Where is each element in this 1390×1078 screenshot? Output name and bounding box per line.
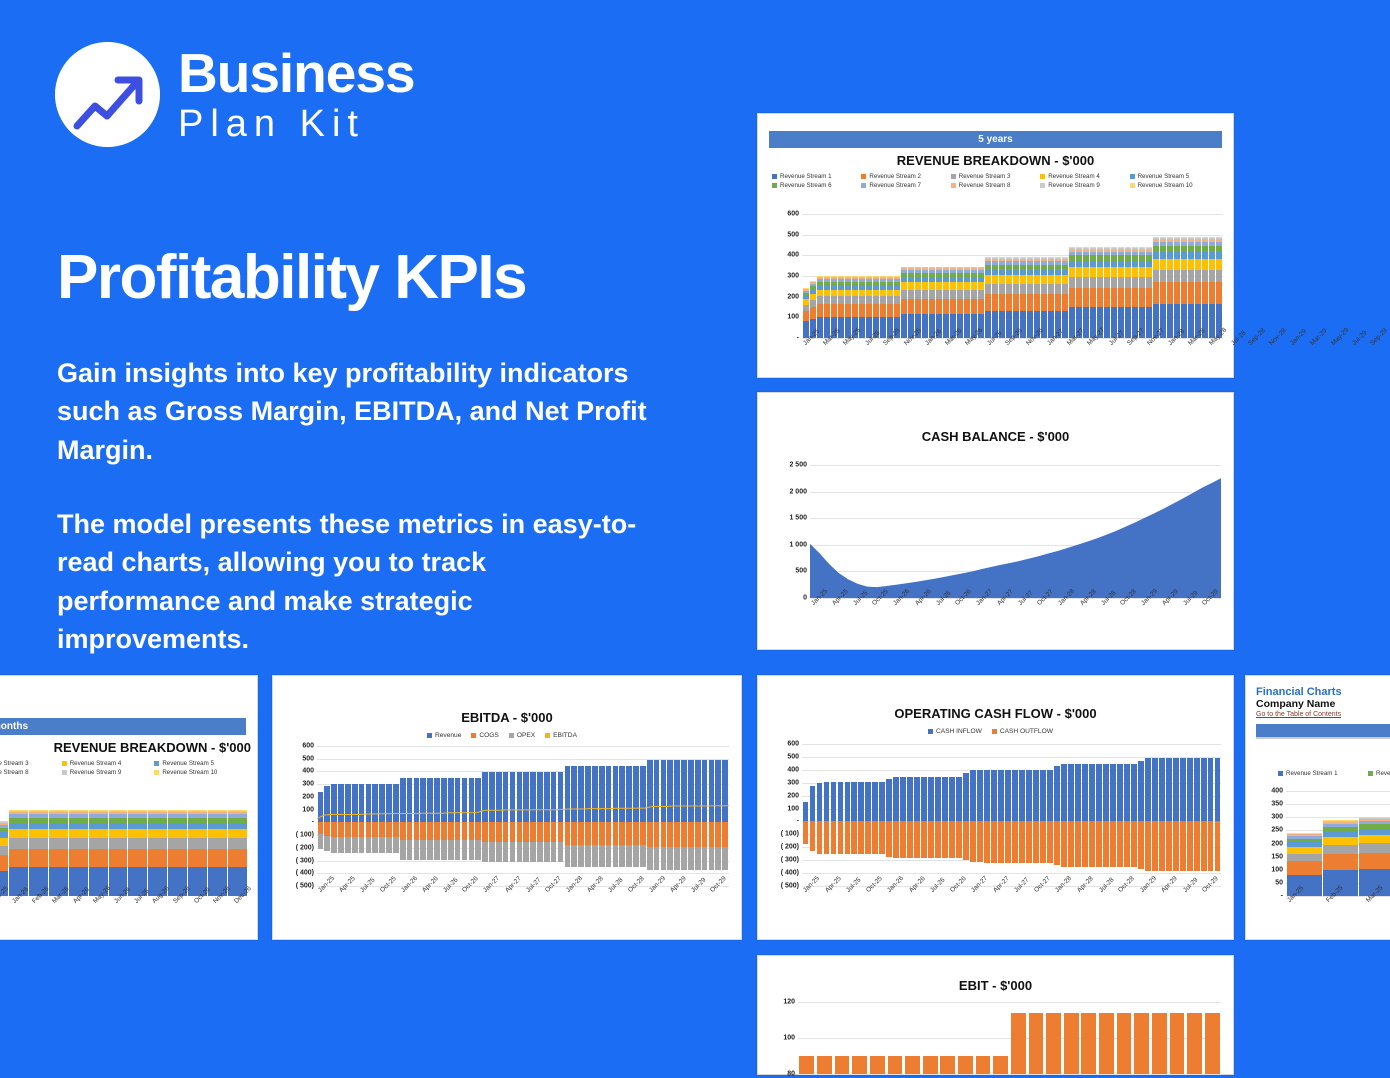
- bar-group: [1012, 744, 1018, 886]
- bar: [1103, 764, 1109, 821]
- stacked-bar: [1111, 247, 1117, 338]
- legend-swatch: [427, 733, 432, 738]
- legend-label: CASH OUTFLOW: [1000, 728, 1053, 735]
- bar: [817, 821, 823, 853]
- bar-segment: [971, 299, 977, 314]
- bar: [803, 802, 809, 821]
- bar-segment: [831, 296, 837, 303]
- bar-segment: [1146, 307, 1152, 338]
- bar-segment: [936, 282, 942, 290]
- legend-item: EBITDA: [545, 732, 577, 739]
- legend-item: Revenue Stream 6: [1368, 770, 1390, 777]
- bar-segment: [999, 294, 1005, 311]
- stacked-bar: [49, 810, 68, 896]
- bar-segment: [1153, 282, 1159, 303]
- stacked-bar: [1139, 247, 1145, 338]
- bar-segment: [957, 299, 963, 314]
- bar: [1180, 821, 1186, 871]
- stacked-bar: [89, 810, 108, 896]
- bar-segment: [852, 290, 858, 297]
- bar: [907, 777, 913, 821]
- bar: [831, 821, 837, 854]
- bar-segment: [128, 849, 147, 867]
- stacked-bar: [1188, 237, 1194, 338]
- legend-swatch: [951, 183, 956, 188]
- bar-segment: [1139, 267, 1145, 277]
- gridline: [802, 886, 1221, 887]
- bar-segment: [1090, 288, 1096, 307]
- y-axis-tick: 0: [803, 595, 810, 602]
- bar-group: [942, 744, 948, 886]
- stacked-bar: [824, 276, 830, 338]
- legend-item: Revenue Stream 9: [1040, 182, 1129, 189]
- bar-segment: [1104, 267, 1110, 277]
- bar: [942, 777, 948, 821]
- bar: [1131, 764, 1137, 821]
- bar: [977, 770, 983, 821]
- bar-segment: [873, 296, 879, 303]
- bar: [1159, 821, 1165, 871]
- stacked-bar: [901, 267, 907, 338]
- bar-segment: [0, 855, 8, 871]
- bar-segment: [1062, 284, 1068, 294]
- legend-item: Revenue Stream 8: [951, 182, 1040, 189]
- legend-label: Revenue Stream 8: [0, 769, 29, 776]
- stacked-bar: [109, 810, 128, 896]
- bar-group: [1173, 744, 1179, 886]
- xaxis-revenue-5y: Jan-25Mar-25May-25Jul-25Sep-25Nov-25Jan-…: [802, 342, 1223, 349]
- bar-segment: [1027, 294, 1033, 311]
- bar-segment: [957, 290, 963, 299]
- bar: [1075, 821, 1081, 866]
- bar-segment: [908, 290, 914, 299]
- legend-swatch: [1130, 183, 1135, 188]
- bar-group: [1075, 744, 1081, 886]
- stacked-bar: [1083, 247, 1089, 338]
- bar: [1096, 764, 1102, 821]
- stacked-bar: [922, 267, 928, 338]
- stacked-bar: [1153, 237, 1159, 338]
- stacked-bar: [929, 267, 935, 338]
- legend-item: Revenue: [427, 732, 461, 739]
- bar: [1131, 821, 1137, 866]
- chart-title-revenue-5y: REVENUE BREAKDOWN - $'000: [758, 153, 1233, 168]
- bar: [905, 1056, 920, 1074]
- bar-group: [1138, 744, 1144, 886]
- bar-group: [1208, 744, 1214, 886]
- stacked-bar: [1167, 237, 1173, 338]
- y-axis-tick: 400: [302, 768, 317, 775]
- bar: [1208, 821, 1214, 871]
- bar-segment: [1055, 294, 1061, 311]
- bar: [879, 821, 885, 854]
- y-axis-tick: 600: [787, 741, 802, 748]
- bar: [865, 782, 871, 821]
- stacked-bar: [29, 810, 48, 896]
- bar: [1082, 821, 1088, 866]
- stacked-bar: [880, 276, 886, 338]
- bar-segment: [1041, 284, 1047, 294]
- bar: [900, 777, 906, 821]
- bar: [1054, 821, 1060, 865]
- bar-group: [1089, 744, 1095, 886]
- bar-segment: [9, 849, 28, 867]
- bar-group: [907, 744, 913, 886]
- stacked-bar: [971, 267, 977, 338]
- bar-segment: [1006, 275, 1012, 284]
- bar-group: [1159, 744, 1165, 886]
- bar: [956, 821, 962, 858]
- stacked-bar: [1125, 247, 1131, 338]
- bar-group: [803, 744, 809, 886]
- bar-segment: [1153, 252, 1159, 259]
- bar-segment: [188, 829, 207, 838]
- bar-segment: [0, 838, 8, 846]
- stacked-bar: [208, 810, 227, 896]
- bar: [1005, 770, 1011, 822]
- bar-series: [798, 1002, 1221, 1074]
- legend-swatch: [951, 174, 956, 179]
- bar-group: [810, 744, 816, 886]
- bar-segment: [936, 290, 942, 299]
- bar: [1026, 770, 1032, 822]
- legend-label: Revenue Stream 5: [1138, 173, 1190, 180]
- bar-segment: [978, 282, 984, 290]
- legend-label: Revenue Stream 5: [162, 760, 214, 767]
- bar: [1173, 821, 1179, 871]
- bar-segment: [1287, 854, 1322, 862]
- legend-swatch: [1130, 174, 1135, 179]
- hero-paragraph-1: Gain insights into key profitability ind…: [57, 354, 657, 469]
- y-axis-tick: ( 100): [296, 832, 317, 839]
- bar: [888, 1056, 903, 1074]
- plot-cash-balance: 2 5002 0001 5001 0005000: [810, 465, 1221, 598]
- bar-group: [1194, 744, 1200, 886]
- table-of-contents-link[interactable]: Go to the Table of Contents: [1256, 711, 1390, 718]
- bar-segment: [1174, 282, 1180, 303]
- bar-segment: [1097, 277, 1103, 288]
- brand-name-line1: Business: [178, 46, 415, 101]
- stacked-bar: [1195, 237, 1201, 338]
- legend-item: Revenue Stream 3: [0, 760, 62, 767]
- bar-segment: [1209, 259, 1215, 270]
- bar: [1145, 821, 1151, 871]
- card-operating-cash-flow: OPERATING CASH FLOW - $'000 CASH INFLOWC…: [757, 675, 1234, 940]
- bar-series: [0, 796, 247, 896]
- bar-segment: [859, 304, 865, 317]
- bar-group: [1033, 744, 1039, 886]
- bar-segment: [1041, 275, 1047, 284]
- bar: [1145, 758, 1151, 822]
- stacked-bar: [1118, 247, 1124, 338]
- bar-segment: [964, 290, 970, 299]
- bar: [1082, 764, 1088, 821]
- bar-segment: [1083, 288, 1089, 307]
- legend-label: Revenue: [435, 732, 461, 739]
- stacked-bar: [999, 257, 1005, 338]
- bar-segment: [1323, 837, 1358, 845]
- bar: [1012, 821, 1018, 862]
- y-axis-tick: 300: [787, 779, 802, 786]
- chart-title-ebit: EBIT - $'000: [758, 978, 1233, 993]
- bar-segment: [894, 304, 900, 317]
- bar-segment: [992, 275, 998, 284]
- bar-segment: [1146, 267, 1152, 277]
- bar-segment: [1287, 847, 1322, 854]
- bar-segment: [838, 304, 844, 317]
- bar-group: [1201, 744, 1207, 886]
- cash-balance-area: [810, 465, 1221, 598]
- bar-group: [1082, 744, 1088, 886]
- bar: [928, 777, 934, 821]
- bar-group: [858, 744, 864, 886]
- bar-segment: [978, 299, 984, 314]
- bar-segment: [1055, 275, 1061, 284]
- legend-label: Revenue Stream 6: [1376, 770, 1390, 777]
- stacked-bar: [1076, 247, 1082, 338]
- y-axis-tick: 500: [787, 753, 802, 760]
- legend-swatch: [928, 729, 933, 734]
- panel-title: Financial Charts: [1256, 686, 1390, 698]
- legend-label: Revenue Stream 3: [0, 760, 29, 767]
- bar-segment: [887, 290, 893, 297]
- bar-group: [831, 744, 837, 886]
- stacked-bar: [1202, 237, 1208, 338]
- bar-series: [1286, 791, 1390, 896]
- bar: [1029, 1013, 1044, 1074]
- bar-group: [893, 744, 899, 886]
- bar-group: [921, 744, 927, 886]
- bar-segment: [901, 282, 907, 290]
- y-axis-tick: 200: [787, 792, 802, 799]
- legend-ebitda: RevenueCOGSOPEXEBITDA: [273, 731, 741, 740]
- bar-group: [970, 744, 976, 886]
- legend-label: Revenue Stream 10: [162, 769, 217, 776]
- bar-segment: [880, 290, 886, 297]
- legend-label: Revenue Stream 2: [869, 173, 921, 180]
- bar: [851, 782, 857, 821]
- card-ebit: EBIT - $'000 12010080: [757, 955, 1234, 1075]
- bar-segment: [894, 290, 900, 297]
- bar-segment: [1188, 252, 1194, 259]
- y-axis-tick: 200: [787, 293, 802, 300]
- plot-operating-cash-flow: 600500400300200100-( 100)( 200)( 300)( 4…: [802, 744, 1221, 886]
- bar-segment: [838, 290, 844, 297]
- y-axis-tick: 400: [787, 766, 802, 773]
- stacked-bar: [1069, 247, 1075, 338]
- bar: [1033, 821, 1039, 862]
- y-axis-tick: 500: [787, 231, 802, 238]
- bar-segment: [1111, 267, 1117, 277]
- bar-segment: [866, 304, 872, 317]
- bar-segment: [852, 304, 858, 317]
- bar: [949, 777, 955, 821]
- bar-group: [851, 744, 857, 886]
- y-axis-tick: ( 400): [781, 870, 802, 877]
- legend-label: Revenue Stream 10: [1138, 182, 1193, 189]
- stacked-bar: [1181, 237, 1187, 338]
- bar: [1152, 758, 1158, 822]
- bar-segment: [1062, 294, 1068, 311]
- bar-group: [817, 744, 823, 886]
- bar-segment: [873, 304, 879, 317]
- bar-segment: [824, 290, 830, 297]
- bar: [870, 1056, 885, 1074]
- brand-logo: Business Plan Kit: [55, 42, 415, 147]
- bar: [1026, 821, 1032, 862]
- bar-segment: [1181, 270, 1187, 282]
- card-revenue-breakdown-24m: 24 months REVENUE BREAKDOWN - $'000 Reve…: [0, 675, 258, 940]
- bar-segment: [1104, 288, 1110, 307]
- bar-segment: [1216, 282, 1222, 303]
- legend-label: Revenue Stream 7: [869, 182, 921, 189]
- bar-segment: [1132, 267, 1138, 277]
- bar-group: [956, 744, 962, 886]
- legend-label: Revenue Stream 4: [70, 760, 122, 767]
- bar-segment: [824, 304, 830, 317]
- bar-segment: [1359, 835, 1390, 844]
- y-axis-tick: 400: [787, 252, 802, 259]
- bar-segment: [999, 284, 1005, 294]
- legend-label: Revenue Stream 1: [780, 173, 832, 180]
- bar-segment: [985, 294, 991, 311]
- bar: [976, 1056, 991, 1074]
- bar: [928, 821, 934, 858]
- stacked-bar: [1048, 257, 1054, 338]
- bar-segment: [1160, 259, 1166, 270]
- bar: [1046, 1013, 1061, 1074]
- legend-label: Revenue Stream 9: [70, 769, 122, 776]
- legend-item: OPEX: [509, 732, 535, 739]
- bar-segment: [208, 838, 227, 848]
- y-axis-tick: 2 000: [789, 488, 810, 495]
- bar: [1064, 1013, 1079, 1074]
- bar: [886, 821, 892, 857]
- legend-label: CASH INFLOW: [936, 728, 982, 735]
- bar-segment: [148, 838, 167, 848]
- bar-segment: [1181, 259, 1187, 270]
- bar-segment: [915, 282, 921, 290]
- bar-segment: [1174, 270, 1180, 282]
- bar-segment: [1069, 267, 1075, 277]
- bar-segment: [1034, 284, 1040, 294]
- bar: [1075, 764, 1081, 821]
- bar-group: [935, 744, 941, 886]
- bar-segment: [1167, 259, 1173, 270]
- bar-segment: [49, 838, 68, 848]
- bar-segment: [1153, 259, 1159, 270]
- bar-segment: [901, 299, 907, 314]
- bar-segment: [1188, 259, 1194, 270]
- bar: [1134, 1013, 1149, 1074]
- bar: [1096, 821, 1102, 866]
- bar: [835, 1056, 850, 1074]
- bar-segment: [188, 849, 207, 867]
- bar-segment: [901, 290, 907, 299]
- stacked-bar: [228, 810, 247, 896]
- bar-segment: [985, 284, 991, 294]
- bar: [1033, 770, 1039, 822]
- bar-segment: [817, 304, 823, 317]
- bar-segment: [831, 304, 837, 317]
- bar-segment: [859, 290, 865, 297]
- bar: [998, 770, 1004, 822]
- bar-group: [1019, 744, 1025, 886]
- bar: [1089, 821, 1095, 866]
- bar-segment: [1202, 270, 1208, 282]
- bar-segment: [1160, 252, 1166, 259]
- bar: [1124, 821, 1130, 866]
- bar-group: [1110, 744, 1116, 886]
- y-axis-tick: ( 200): [781, 844, 802, 851]
- bar-segment: [1160, 282, 1166, 303]
- growth-arrow-chart-icon: [55, 42, 160, 147]
- bar-segment: [1083, 277, 1089, 288]
- bar-segment: [1048, 284, 1054, 294]
- bar-segment: [49, 849, 68, 867]
- y-axis-tick: 120: [783, 999, 798, 1006]
- bar-segment: [188, 838, 207, 848]
- stacked-bar: [69, 810, 88, 896]
- bar-group: [949, 744, 955, 886]
- bar-group: [977, 744, 983, 886]
- bar: [1205, 1013, 1220, 1074]
- bar: [1019, 821, 1025, 862]
- legend-operating-cash-flow: CASH INFLOWCASH OUTFLOW: [758, 727, 1233, 736]
- legend-item: CASH OUTFLOW: [992, 728, 1053, 735]
- bar-group: [991, 744, 997, 886]
- legend-item: Revenue Stream 6: [772, 182, 861, 189]
- bar: [810, 786, 816, 821]
- legend-swatch: [509, 733, 514, 738]
- gridline: [810, 598, 1221, 599]
- bar-segment: [1139, 288, 1145, 307]
- bar-segment: [985, 311, 991, 338]
- stacked-bar: [1209, 237, 1215, 338]
- y-axis-tick: ( 100): [781, 831, 802, 838]
- bar: [886, 779, 892, 822]
- xaxis-revenue-24m: Nov-25Dec-25Jan-26Feb-26Mar-26Apr-26May-…: [0, 900, 247, 907]
- stacked-bar: [1160, 237, 1166, 338]
- bar: [1166, 758, 1172, 822]
- legend-item: Revenue Stream 4: [1040, 173, 1129, 180]
- x-axis-tick: Jul-29: [1351, 329, 1368, 346]
- bar: [1061, 764, 1067, 821]
- bar-segment: [228, 829, 247, 838]
- stacked-bar: [845, 276, 851, 338]
- bar-series: [802, 214, 1223, 338]
- y-axis-tick: ( 500): [781, 883, 802, 890]
- bar-segment: [1097, 288, 1103, 307]
- y-axis-tick: 100: [1271, 866, 1286, 873]
- bar-segment: [1195, 270, 1201, 282]
- bar-segment: [1062, 275, 1068, 284]
- gridline: [798, 1074, 1221, 1075]
- bar: [1040, 770, 1046, 822]
- bar-group: [1166, 744, 1172, 886]
- bar-segment: [89, 838, 108, 848]
- stacked-bar: [1097, 247, 1103, 338]
- bar-segment: [29, 849, 48, 867]
- bar-segment: [69, 849, 88, 867]
- bar-segment: [929, 290, 935, 299]
- bar: [1110, 821, 1116, 866]
- bar-group: [1068, 744, 1074, 886]
- bar-group: [1103, 744, 1109, 886]
- bar-segment: [943, 290, 949, 299]
- bar-segment: [109, 829, 128, 838]
- chart-title-cash-balance: CASH BALANCE - $'000: [758, 429, 1233, 444]
